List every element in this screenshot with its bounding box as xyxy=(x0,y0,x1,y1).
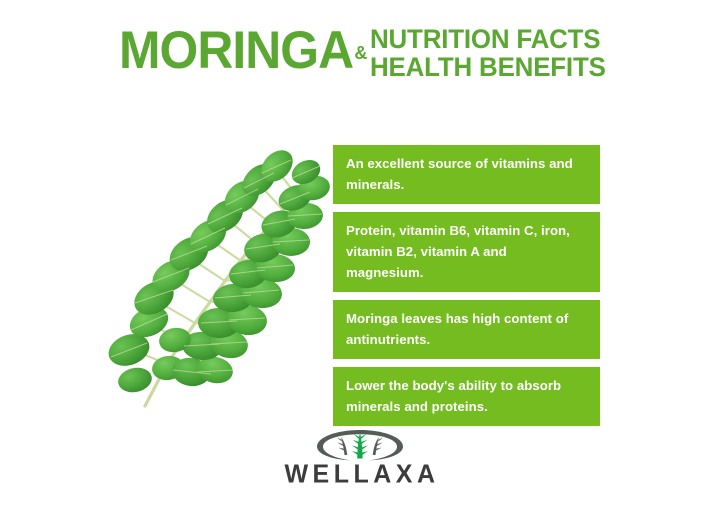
logo-wordmark: WELLAXA xyxy=(280,460,439,488)
brand-logo: WELLAXA xyxy=(0,428,720,488)
title-subtitle-group: NUTRITION FACTS HEALTH BENEFITS xyxy=(370,24,616,81)
fact-item: An excellent source of vitamins and mine… xyxy=(333,145,600,204)
title-subtitle-line-1: NUTRITION FACTS xyxy=(370,26,606,53)
fact-item: Protein, vitamin B6, vitamin C, iron, vi… xyxy=(333,212,600,292)
header-title-block: MORINGA & NUTRITION FACTS HEALTH BENEFIT… xyxy=(0,24,720,86)
title-ampersand: & xyxy=(353,26,370,80)
infographic-canvas: MORINGA & NUTRITION FACTS HEALTH BENEFIT… xyxy=(0,0,720,509)
fact-item: Lower the body's ability to absorb miner… xyxy=(333,367,600,426)
leaf-icon xyxy=(105,118,335,413)
page-title: MORINGA xyxy=(119,24,353,78)
moringa-leaf-image xyxy=(105,118,335,413)
facts-list: An excellent source of vitamins and mine… xyxy=(333,145,600,426)
fact-item: Moringa leaves has high content of antin… xyxy=(333,300,600,359)
wellaxa-plant-emblem-icon xyxy=(311,428,409,462)
title-subtitle-line-2: HEALTH BENEFITS xyxy=(370,54,606,81)
